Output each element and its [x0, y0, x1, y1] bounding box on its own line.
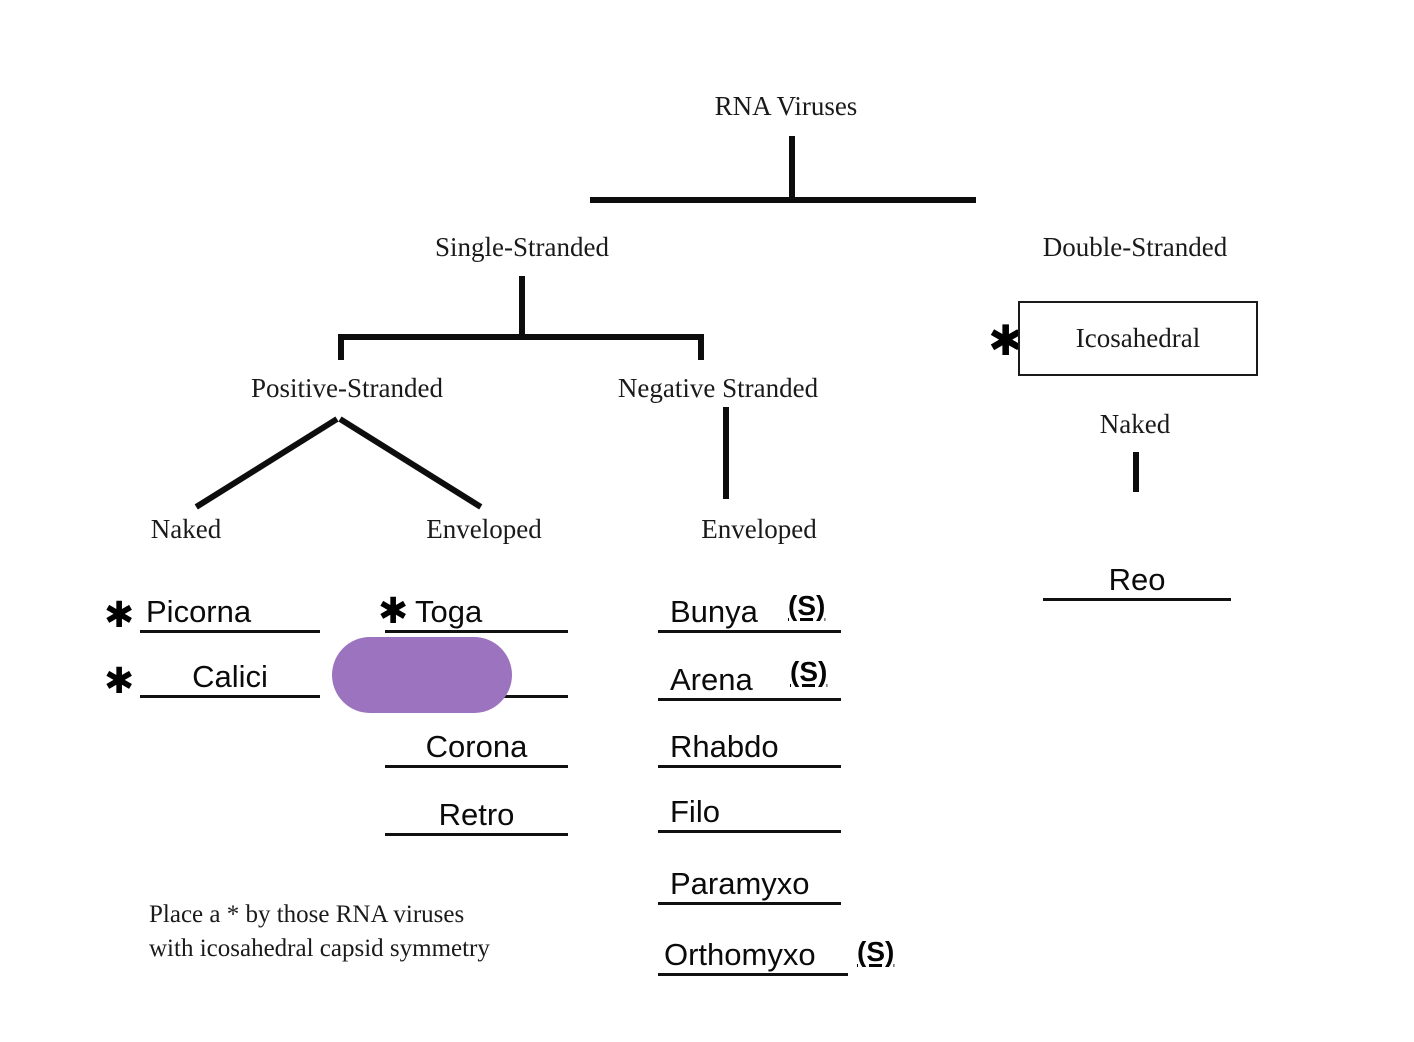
- worksheet-canvas: RNA Viruses Single-Stranded Double-Stran…: [0, 0, 1414, 1042]
- blank-negative-enveloped-6[interactable]: Orthomyxo: [658, 935, 848, 976]
- blank-double-stranded-1-text: Reo: [1109, 564, 1166, 595]
- blank-positive-enveloped-3-text: Corona: [426, 731, 528, 762]
- blank-positive-enveloped-1[interactable]: Toga: [385, 592, 568, 633]
- connector-ss-bracket: [338, 334, 704, 340]
- connector-ds-stem: [1133, 452, 1139, 492]
- blank-positive-naked-1[interactable]: Picorna: [140, 592, 320, 633]
- tree-node-double-stranded: Double-Stranded: [1043, 234, 1227, 261]
- tree-node-negative-stranded: Negative Stranded: [618, 375, 818, 402]
- connector-ss-stem: [519, 276, 525, 338]
- tree-node-positive-naked: Naked: [151, 516, 221, 543]
- blank-positive-naked-2[interactable]: Calici: [140, 657, 320, 698]
- redaction-blob: [332, 637, 512, 713]
- connector-root-stem: [789, 136, 795, 202]
- blank-rule: [385, 630, 568, 633]
- connector-ss-bracket-right-stub: [698, 334, 704, 360]
- blank-rule: [658, 973, 848, 976]
- blank-negative-enveloped-3[interactable]: Rhabdo: [658, 727, 841, 768]
- blank-negative-enveloped-2-text: Arena: [670, 664, 753, 695]
- blank-negative-enveloped-5[interactable]: Paramyxo: [658, 864, 841, 905]
- blank-rule: [140, 630, 320, 633]
- blank-rule: [385, 833, 568, 836]
- star-icon-picorna: ✱: [104, 598, 134, 634]
- blank-positive-enveloped-4-text: Retro: [439, 799, 515, 830]
- connector-pos-to-enveloped: [338, 416, 482, 509]
- blank-rule: [658, 630, 841, 633]
- instruction-text: Place a * by those RNA viruses with icos…: [149, 898, 579, 965]
- connector-neg-stem: [723, 407, 729, 499]
- blank-positive-naked-2-text: Calici: [192, 661, 268, 692]
- star-icon-calici: ✱: [104, 664, 134, 700]
- node-box-icosahedral-label: Icosahedral: [1076, 323, 1200, 354]
- flag-segmented-orthomyxo: (S): [857, 938, 894, 966]
- flag-segmented-bunya: (S): [788, 592, 825, 620]
- connector-root-bar: [590, 197, 976, 203]
- blank-rule: [658, 765, 841, 768]
- blank-positive-enveloped-4[interactable]: Retro: [385, 795, 568, 836]
- blank-negative-enveloped-4[interactable]: Filo: [658, 792, 841, 833]
- connector-ss-bracket-left-stub: [338, 334, 344, 360]
- blank-rule: [658, 902, 841, 905]
- blank-rule: [1043, 598, 1231, 601]
- tree-node-single-stranded: Single-Stranded: [435, 234, 609, 261]
- blank-rule: [385, 765, 568, 768]
- blank-double-stranded-1[interactable]: Reo: [1043, 545, 1231, 601]
- tree-node-negative-enveloped: Enveloped: [701, 516, 816, 543]
- tree-node-rna-viruses: RNA Viruses: [715, 93, 858, 120]
- blank-negative-enveloped-6-text: Orthomyxo: [664, 939, 816, 970]
- blank-rule: [658, 698, 841, 701]
- blank-positive-enveloped-3[interactable]: Corona: [385, 727, 568, 768]
- blank-negative-enveloped-1-text: Bunya: [670, 596, 758, 627]
- blank-positive-enveloped-1-text: Toga: [415, 596, 482, 627]
- blank-rule: [658, 830, 841, 833]
- flag-segmented-arena: (S): [790, 658, 827, 686]
- tree-node-ds-naked: Naked: [1100, 411, 1170, 438]
- tree-node-positive-enveloped: Enveloped: [426, 516, 541, 543]
- connector-pos-to-naked: [195, 416, 339, 509]
- blank-negative-enveloped-5-text: Paramyxo: [670, 868, 810, 899]
- blank-negative-enveloped-4-text: Filo: [670, 796, 720, 827]
- blank-positive-naked-1-text: Picorna: [146, 596, 251, 627]
- tree-node-positive-stranded: Positive-Stranded: [251, 375, 443, 402]
- blank-rule: [140, 695, 320, 698]
- blank-negative-enveloped-3-text: Rhabdo: [670, 731, 779, 762]
- node-box-icosahedral: Icosahedral: [1018, 301, 1258, 376]
